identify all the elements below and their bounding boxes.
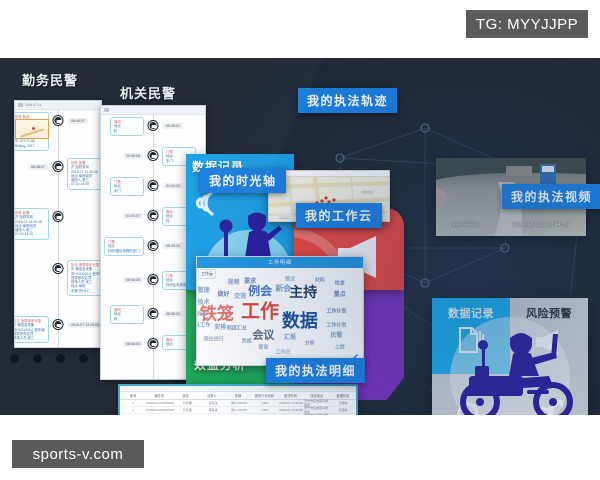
word-cloud-term: 技术 bbox=[198, 300, 210, 306]
timeline-node-icon bbox=[149, 275, 158, 284]
timeline-time: 08:54:00 bbox=[123, 341, 143, 347]
word-cloud-term: 完成 bbox=[197, 312, 207, 317]
word-cloud-term: 完成 bbox=[242, 339, 252, 344]
word-cloud-term: 会议 bbox=[252, 330, 274, 341]
table-cell: 2 bbox=[120, 407, 146, 413]
word-cloud-term: 重点 bbox=[334, 292, 346, 298]
table-column-header: 序号 bbox=[120, 392, 146, 399]
word-cloud-term: 工作日 bbox=[276, 351, 291, 356]
word-cloud-term: 交流 bbox=[234, 294, 246, 300]
timeline-time: 2018-07-14 09:00 bbox=[68, 322, 102, 328]
tag-my-timeline[interactable]: 我的时光轴 bbox=[200, 168, 286, 193]
screenshot-root: TG: MYYJJPP bbox=[0, 0, 600, 480]
word-cloud-term: 做好 bbox=[218, 292, 230, 298]
timeline-bubble[interactable]: 勤务 轨迹 东 XFY72-88 Beijing_2017 bbox=[14, 112, 49, 151]
timeline-bubble[interactable]: 离岗 地点 科 bbox=[110, 117, 144, 136]
table-cell: 鲁H·XXXXX bbox=[226, 407, 252, 413]
word-cloud-term: 例会 bbox=[248, 285, 272, 297]
timeline-bubble[interactable]: 执法 违章停车记录 车 辆信息采集 鲁HXXXXX/小型车辆 违章停车处罚 现场… bbox=[67, 260, 102, 296]
word-cloud-term: 民警 bbox=[330, 333, 342, 339]
timeline-node-icon bbox=[149, 211, 158, 220]
table-cell: 张某某 bbox=[200, 400, 226, 406]
timeline-node-icon bbox=[149, 309, 158, 318]
bubble-foot: 东 XFY72-88 Beijing_2017 bbox=[15, 139, 45, 148]
table-cell: 已处理 bbox=[174, 407, 200, 413]
table-cell: 2018-07-14 09:10 bbox=[278, 414, 304, 415]
table-column-header: 违法地点 bbox=[304, 392, 330, 399]
timeline-time: 01:00:32 bbox=[163, 183, 183, 189]
duty-police-timeline-card[interactable]: 2018-07-14 勤务 轨迹 东 XFY72-88 Beijing_2017… bbox=[14, 100, 102, 348]
timeline-row[interactable]: 离岗 地点 科 00:28:01 bbox=[101, 115, 205, 145]
word-cloud-term: 检查 bbox=[335, 282, 345, 287]
timeline-bubble[interactable]: 执法 违章停车记录 车 辆信息采集 鲁HXXXXX/小型车辆 违章停车处罚 现场… bbox=[14, 316, 49, 343]
table-cell: 已处理 bbox=[174, 400, 200, 406]
watermark-top-right: TG: MYYJJPP bbox=[466, 10, 588, 38]
table-cell: 鲁H·XXXXX bbox=[226, 414, 252, 415]
table-cell: 2018-07-14 08:46 bbox=[278, 400, 304, 406]
timeline-bubble[interactable]: 勤务 民警 开 始勤务岗 2018-07-14 08:46 地点:阜桥岗亭 值班… bbox=[67, 158, 102, 190]
svg-text:阜桥街道: 阜桥街道 bbox=[279, 215, 291, 220]
table-column-header: 违法时间 bbox=[277, 392, 303, 399]
bubble-line: 车牌:鲁H1X bbox=[71, 289, 102, 293]
timeline-card-titlebar bbox=[101, 106, 205, 115]
section-title-duty-police: 勤务民警 bbox=[22, 70, 78, 89]
bubble-line: 科 bbox=[114, 317, 140, 321]
table-cell: 李某某 bbox=[200, 407, 226, 413]
table-cell: 37080012201800001 bbox=[146, 400, 174, 406]
word-cloud-term: 分析 bbox=[305, 341, 315, 346]
table-cell: 已结案 bbox=[330, 407, 356, 413]
table-cell: 1301 bbox=[252, 407, 278, 413]
work-cloud-canvas[interactable]: 工作云 铁笼工作数据主持例会会议新会工作计划视频要求情况材料检查管理技术完成与队… bbox=[197, 268, 363, 365]
table-cell: 2018-07-14 08:52 bbox=[278, 407, 304, 413]
timeline-time: 08:43:19 bbox=[163, 243, 183, 249]
word-cloud-term: 与队工作 bbox=[196, 324, 210, 329]
timeline-time: 08:46:37 bbox=[68, 118, 88, 124]
bubble-line: 科 bbox=[114, 129, 140, 133]
table-cell: 1 bbox=[120, 400, 146, 406]
slide-dot bbox=[10, 354, 19, 363]
word-cloud-term: 材料 bbox=[315, 278, 325, 283]
watermark-bottom-left: sports-v.com bbox=[12, 440, 144, 468]
table-cell: 济宁市任城区古槐街道 bbox=[304, 414, 330, 415]
word-cloud-term: 工作计划 bbox=[326, 324, 346, 329]
table-cell: 鲁H·XXXXX bbox=[226, 400, 252, 406]
duty-timeline-body: 勤务 轨迹 东 XFY72-88 Beijing_2017 08:46:37 勤… bbox=[15, 110, 101, 347]
video-osd-timestamp: 2019-06-02 07:44:14 bbox=[512, 222, 569, 228]
titlebar-chip bbox=[18, 103, 23, 107]
section-title-agency-police: 机关民警 bbox=[120, 83, 176, 102]
map-thumbnail[interactable] bbox=[15, 119, 49, 139]
timeline-time: 00:59:06 bbox=[123, 153, 143, 159]
word-cloud-term: 汇报 bbox=[284, 335, 296, 341]
traffic-police-motorcycle-icon bbox=[435, 318, 585, 415]
timeline-time: 08:48:07 bbox=[28, 164, 48, 170]
slide-dot bbox=[79, 354, 88, 363]
table-column-header: 当事人 bbox=[199, 392, 225, 399]
work-cloud-side-label: 工作云 bbox=[198, 269, 216, 279]
bubble-line: 车门 bbox=[114, 189, 140, 193]
timeline-bubble[interactable]: 离岗 地点 科 bbox=[110, 305, 144, 324]
timeline-time: 08:50:22 bbox=[163, 311, 183, 317]
table-column-header: 违法行为代码 bbox=[251, 392, 277, 399]
word-cloud-term: 管理 bbox=[198, 288, 210, 294]
video-osd-id: 000-00001 bbox=[452, 222, 479, 228]
timeline-time: 00:28:01 bbox=[163, 123, 183, 129]
timeline-row[interactable]: 勤务 民警 开 始勤务岗 2018-07-14 08:48 地点:阜桥岗亭 值班… bbox=[15, 206, 101, 258]
table-cell: 王某某 bbox=[200, 414, 226, 415]
timeline-node-icon bbox=[54, 212, 63, 221]
tag-enforcement-trajectory[interactable]: 我的执法轨迹 bbox=[298, 88, 397, 113]
timeline-node-icon bbox=[149, 151, 158, 160]
slide-dot bbox=[56, 354, 65, 363]
word-cloud-term: 视频 bbox=[228, 280, 240, 286]
svg-text:古槐街道: 古槐街道 bbox=[361, 189, 373, 194]
tag-enforcement-detail[interactable]: 我的执法明细 bbox=[266, 358, 365, 383]
table-column-header: 车牌 bbox=[225, 392, 251, 399]
table-cell: 37080012201800002 bbox=[146, 407, 174, 413]
timeline-row[interactable]: 勤务 民警 开 始勤务岗 2018-07-14 08:46 地点:阜桥岗亭 值班… bbox=[15, 156, 101, 206]
work-cloud-card[interactable]: 工作明细 工作云 铁笼工作数据主持例会会议新会工作计划视频要求情况材料检查管理技… bbox=[196, 256, 364, 366]
tag-my-work-cloud[interactable]: 我的工作云 bbox=[296, 203, 382, 228]
table-row[interactable]: 337080012201800003处理中王某某鲁H·XXXXX10392018… bbox=[120, 414, 356, 415]
bubble-line: 07:20-14:00 bbox=[71, 182, 101, 186]
work-cloud-titlebar: 工作明细 bbox=[197, 257, 363, 268]
table-column-header: 状态 bbox=[172, 392, 198, 399]
table-column-header: 案件号 bbox=[146, 392, 172, 399]
word-cloud-term: 工作计划 bbox=[326, 309, 346, 314]
timeline-bubble[interactable]: 门禁 地点 科研/楼区电梯前室门 bbox=[104, 237, 144, 256]
word-cloud-term: 主持 bbox=[289, 285, 317, 299]
word-cloud-term: 情况 bbox=[285, 277, 295, 282]
video-osd-overlay: 000-00001 2019-06-02 07:44:14 bbox=[436, 222, 586, 228]
word-cloud-term: 制度汇总 bbox=[227, 327, 247, 332]
timeline-node-icon bbox=[54, 162, 63, 171]
timeline-bubble[interactable]: 勤务 民警 开 始勤务岗 2018-07-14 08:48 地点:阜桥岗亭 值班… bbox=[14, 208, 49, 240]
table-cell: 待审核 bbox=[330, 414, 356, 415]
bubble-line: 科研/楼区电梯前室门 bbox=[108, 249, 140, 253]
timeline-node-icon bbox=[149, 121, 158, 130]
word-cloud-term: 督查 bbox=[258, 345, 268, 350]
table-cell: 37080012201800003 bbox=[146, 414, 174, 415]
slide-dot bbox=[33, 354, 42, 363]
timeline-header-date: 2018-07-14 bbox=[25, 103, 41, 107]
word-cloud-term: 现在进行 bbox=[204, 337, 224, 342]
table-cell: 1301 bbox=[252, 400, 278, 406]
table-column-header: 处理状态 bbox=[330, 392, 356, 399]
timeline-time: 08:44:35 bbox=[123, 277, 143, 283]
table-cell: 处理中 bbox=[174, 414, 200, 415]
word-cloud-term: 安排 bbox=[214, 325, 226, 331]
timeline-node-icon bbox=[54, 264, 63, 273]
timeline-row[interactable]: 执法 违章停车记录 车 辆信息采集 鲁HXXXXX/小型车辆 违章停车处罚 现场… bbox=[15, 314, 101, 348]
word-cloud-term: 新会 bbox=[275, 285, 291, 293]
timeline-node-icon bbox=[149, 241, 158, 250]
timeline-node-icon bbox=[149, 181, 158, 190]
timeline-node-icon bbox=[54, 320, 63, 329]
word-cloud-term: 上报 bbox=[335, 345, 345, 350]
table-cell: 3 bbox=[120, 414, 146, 415]
table-cell: 1039 bbox=[252, 414, 278, 415]
table-cell: 已结案 bbox=[330, 400, 356, 406]
capability-grid[interactable]: 数据记录 风险预警 效益分析 bbox=[432, 298, 588, 415]
timeline-node-icon bbox=[149, 339, 158, 348]
bubble-line: 现场人员:张三 bbox=[14, 336, 45, 340]
tag-enforcement-video[interactable]: 我的执法视频 bbox=[502, 184, 600, 209]
timeline-card-titlebar: 2018-07-14 bbox=[15, 101, 101, 110]
word-cloud-term: 工作 bbox=[241, 302, 279, 321]
word-cloud-term: 要求 bbox=[244, 279, 256, 285]
timeline-time: 01:04:07 bbox=[123, 213, 143, 219]
enforcement-detail-table-card[interactable]: 序号案件号状态当事人车牌违法行为代码违法时间违法地点处理状态 137080012… bbox=[118, 384, 358, 415]
word-cloud-term: 数据 bbox=[282, 312, 318, 330]
timeline-bubble[interactable]: 门禁 地点 车门 bbox=[110, 177, 144, 196]
timeline-row[interactable]: 勤务 轨迹 东 XFY72-88 Beijing_2017 08:46:37 bbox=[15, 110, 101, 156]
table-body: 137080012201800001已处理张某某鲁H·XXXXX13012018… bbox=[120, 400, 356, 415]
timeline-node-icon bbox=[54, 116, 63, 125]
timeline-row[interactable]: 执法 违章停车记录 车 辆信息采集 鲁HXXXXX/小型车辆 违章停车处罚 现场… bbox=[15, 258, 101, 314]
titlebar-chip bbox=[104, 108, 109, 112]
presentation-slide: 勤务民警 机关民警 2018-07-14 勤务 轨迹 东 XFY72-88 Be… bbox=[0, 58, 600, 415]
bubble-line: 07:20-14:00 bbox=[15, 232, 45, 236]
